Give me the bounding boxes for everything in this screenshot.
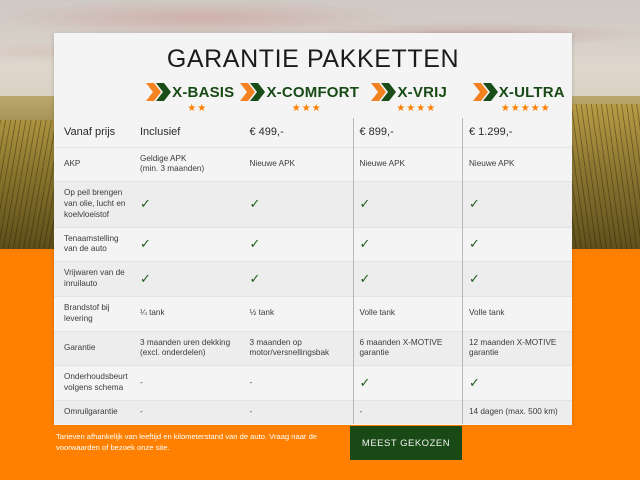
check-icon: ✓ xyxy=(360,236,371,251)
background-grass-right xyxy=(572,104,640,258)
table-cell: 14 dagen (max. 500 km) xyxy=(463,400,573,423)
table-cell: ✓ xyxy=(353,182,463,227)
table-row: Vrijwaren van de inruilauto✓✓✓✓ xyxy=(54,262,572,297)
table-cell: ✓ xyxy=(353,262,463,297)
table-cell: Volle tank xyxy=(463,296,573,331)
logo-row-spacer xyxy=(54,81,134,114)
comparison-table-body: Vanaf prijsInclusief€ 499,-€ 899,-€ 1.29… xyxy=(54,118,572,424)
x-motive-chevron-icon xyxy=(370,81,396,103)
table-cell: ✓ xyxy=(244,182,354,227)
table-cell: ✓ xyxy=(244,227,354,262)
star-icon: ★ xyxy=(197,104,206,114)
table-row-label: Omruilgarantie xyxy=(54,400,134,423)
table-cell: 3 maanden uren dekking(excl. onderdelen) xyxy=(134,331,244,366)
stars-basis: ★ ★ xyxy=(187,104,206,114)
check-icon: ✓ xyxy=(360,196,371,211)
page-title: GARANTIE PAKKETTEN xyxy=(54,33,572,74)
logo-ultra-main: X-ULTRA xyxy=(472,81,565,103)
logo-vrij-label: X-VRIJ xyxy=(397,84,447,101)
table-cell: ✓ xyxy=(353,366,463,401)
table-cell: ✓ xyxy=(134,262,244,297)
x-motive-chevron-icon xyxy=(145,81,171,103)
table-cell: € 1.299,- xyxy=(463,118,573,147)
table-cell: € 499,- xyxy=(244,118,354,147)
logo-basis-label: X-BASIS xyxy=(172,84,234,101)
package-header-vrij[interactable]: X-VRIJ ★ ★ ★ ★ xyxy=(353,81,463,114)
table-row: Omruilgarantie---14 dagen (max. 500 km) xyxy=(54,400,572,423)
x-motive-chevron-icon xyxy=(239,81,265,103)
star-icon: ★ xyxy=(501,104,510,114)
check-icon: ✓ xyxy=(140,236,151,251)
star-icon: ★ xyxy=(541,104,550,114)
table-row: Vanaf prijsInclusief€ 499,-€ 899,-€ 1.29… xyxy=(54,118,572,147)
table-row-label: Vrijwaren van de inruilauto xyxy=(54,262,134,297)
check-icon: ✓ xyxy=(360,375,371,390)
package-logo-row: X-BASIS ★ ★ xyxy=(54,74,572,118)
logo-comfort-main: X-COMFORT xyxy=(239,81,359,103)
star-icon: ★ xyxy=(406,104,415,114)
logo-ultra-label: X-ULTRA xyxy=(499,84,565,101)
star-icon: ★ xyxy=(312,104,321,114)
table-cell: Geldige APK(min. 3 maanden) xyxy=(134,147,244,182)
table-row-label: Brandstof bij levering xyxy=(54,296,134,331)
table-cell: 6 maanden X-MOTIVEgarantie xyxy=(353,331,463,366)
table-cell: ✓ xyxy=(463,262,573,297)
logo-comfort: X-COMFORT ★ ★ ★ xyxy=(244,81,354,114)
logo-basis: X-BASIS ★ ★ xyxy=(134,81,244,114)
star-icon: ★ xyxy=(426,104,435,114)
logo-vrij-main: X-VRIJ xyxy=(370,81,447,103)
table-row-label: Onderhoudsbeurt volgens schema xyxy=(54,366,134,401)
table-cell: 12 maanden X-MOTIVEgarantie xyxy=(463,331,573,366)
table-cell: ½ tank xyxy=(244,296,354,331)
stars-vrij: ★ ★ ★ ★ xyxy=(396,104,435,114)
star-icon: ★ xyxy=(292,104,301,114)
check-icon: ✓ xyxy=(469,271,480,286)
warranty-packages-card: GARANTIE PAKKETTEN X-BASIS xyxy=(54,33,572,425)
star-icon: ★ xyxy=(396,104,405,114)
check-icon: ✓ xyxy=(469,375,480,390)
comparison-table: Vanaf prijsInclusief€ 499,-€ 899,-€ 1.29… xyxy=(54,118,572,424)
logo-ultra: X-ULTRA ★ ★ ★ ★ ★ xyxy=(463,81,573,114)
package-header-ultra[interactable]: X-ULTRA ★ ★ ★ ★ ★ xyxy=(463,81,573,114)
check-icon: ✓ xyxy=(360,271,371,286)
logo-vrij: X-VRIJ ★ ★ ★ ★ xyxy=(353,81,463,114)
table-row: Op peil brengen van olie, lucht en koelv… xyxy=(54,182,572,227)
meest-gekozen-button[interactable]: MEEST GEKOZEN xyxy=(350,426,462,460)
check-icon: ✓ xyxy=(140,271,151,286)
table-cell: ✓ xyxy=(463,182,573,227)
page-root: GARANTIE PAKKETTEN X-BASIS xyxy=(0,0,640,480)
table-row: Onderhoudsbeurt volgens schema--✓✓ xyxy=(54,366,572,401)
star-icon: ★ xyxy=(511,104,520,114)
table-cell: Nieuwe APK xyxy=(244,147,354,182)
check-icon: ✓ xyxy=(250,196,261,211)
logo-basis-main: X-BASIS xyxy=(145,81,234,103)
table-cell: ¼ tank xyxy=(134,296,244,331)
table-cell: ✓ xyxy=(244,262,354,297)
table-cell: - xyxy=(134,400,244,423)
table-cell: Nieuwe APK xyxy=(353,147,463,182)
x-motive-chevron-icon xyxy=(472,81,498,103)
table-row: Garantie3 maanden uren dekking(excl. ond… xyxy=(54,331,572,366)
table-row: Brandstof bij levering¼ tank½ tankVolle … xyxy=(54,296,572,331)
table-cell: Nieuwe APK xyxy=(463,147,573,182)
star-icon: ★ xyxy=(187,104,196,114)
table-row-label: Garantie xyxy=(54,331,134,366)
table-cell: - xyxy=(353,400,463,423)
table-cell: ✓ xyxy=(463,227,573,262)
footer-disclaimer: Tarieven afhankelijk van leeftijd en kil… xyxy=(56,431,346,453)
table-cell: ✓ xyxy=(353,227,463,262)
table-cell: ✓ xyxy=(134,227,244,262)
star-icon: ★ xyxy=(521,104,530,114)
stars-ultra: ★ ★ ★ ★ ★ xyxy=(501,104,550,114)
check-icon: ✓ xyxy=(469,236,480,251)
table-row: Tenaamstelling van de auto✓✓✓✓ xyxy=(54,227,572,262)
check-icon: ✓ xyxy=(469,196,480,211)
package-header-basis[interactable]: X-BASIS ★ ★ xyxy=(134,81,244,114)
check-icon: ✓ xyxy=(140,196,151,211)
table-row-label: Op peil brengen van olie, lucht en koelv… xyxy=(54,182,134,227)
star-icon: ★ xyxy=(531,104,540,114)
table-cell: ✓ xyxy=(134,182,244,227)
table-row-label: Tenaamstelling van de auto xyxy=(54,227,134,262)
table-cell: - xyxy=(244,366,354,401)
star-icon: ★ xyxy=(302,104,311,114)
table-row-label: Vanaf prijs xyxy=(54,118,134,147)
table-row-label: AKP xyxy=(54,147,134,182)
check-icon: ✓ xyxy=(250,271,261,286)
package-header-comfort[interactable]: X-COMFORT ★ ★ ★ xyxy=(244,81,354,114)
stars-comfort: ★ ★ ★ xyxy=(292,104,321,114)
star-icon: ★ xyxy=(416,104,425,114)
logo-comfort-label: X-COMFORT xyxy=(266,84,359,101)
table-cell: Volle tank xyxy=(353,296,463,331)
table-cell: - xyxy=(244,400,354,423)
table-cell: - xyxy=(134,366,244,401)
table-row: AKPGeldige APK(min. 3 maanden)Nieuwe APK… xyxy=(54,147,572,182)
check-icon: ✓ xyxy=(250,236,261,251)
table-cell: € 899,- xyxy=(353,118,463,147)
table-cell: ✓ xyxy=(463,366,573,401)
table-cell: Inclusief xyxy=(134,118,244,147)
table-cell: 3 maanden opmotor/versnellingsbak xyxy=(244,331,354,366)
